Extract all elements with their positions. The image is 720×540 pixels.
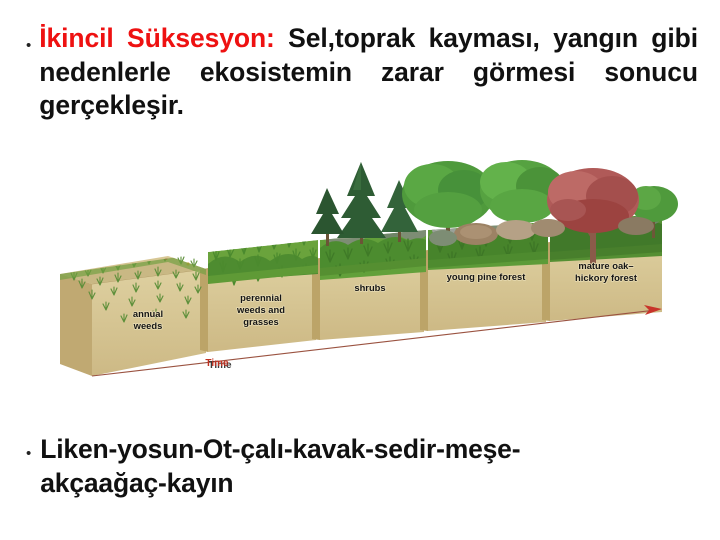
bullet-paragraph-succession-sequence: • Liken-yosun-Ot-çalı-kavak-sedir-meşe-a… [26,432,646,501]
bullet-marker: • [26,22,39,53]
time-axis-label: Time [205,358,229,369]
label-mature-oak-line2: hickory forest [575,272,637,283]
label-annual-weeds-line1: annual [133,308,163,319]
label-perennial-line3: grasses [243,316,278,327]
bullet-text-succession-sequence: Liken-yosun-Ot-çalı-kavak-sedir-meşe-akç… [40,432,646,501]
label-perennial-line2: weeds and [236,304,285,315]
ecological-succession-diagram: annual weeds perennial weeds and grasses… [48,152,680,408]
bullet-paragraph-secondary-succession: • İkincil Süksesyon: Sel,toprak kayması,… [26,22,698,123]
label-mature-oak-line1: mature oak– [578,260,633,271]
label-perennial-line1: perennial [240,292,282,303]
bullet-text-secondary-succession: İkincil Süksesyon: Sel,toprak kayması, y… [39,22,698,123]
label-annual-weeds-line2: weeds [133,320,163,331]
conifer-tree-1 [337,162,386,244]
label-shrubs: shrubs [354,282,385,293]
label-young-pine-forest: young pine forest [447,271,526,282]
bullet-marker-2: • [26,432,40,461]
term-ikincil-suksesyon: İkincil Süksesyon: [39,23,275,53]
